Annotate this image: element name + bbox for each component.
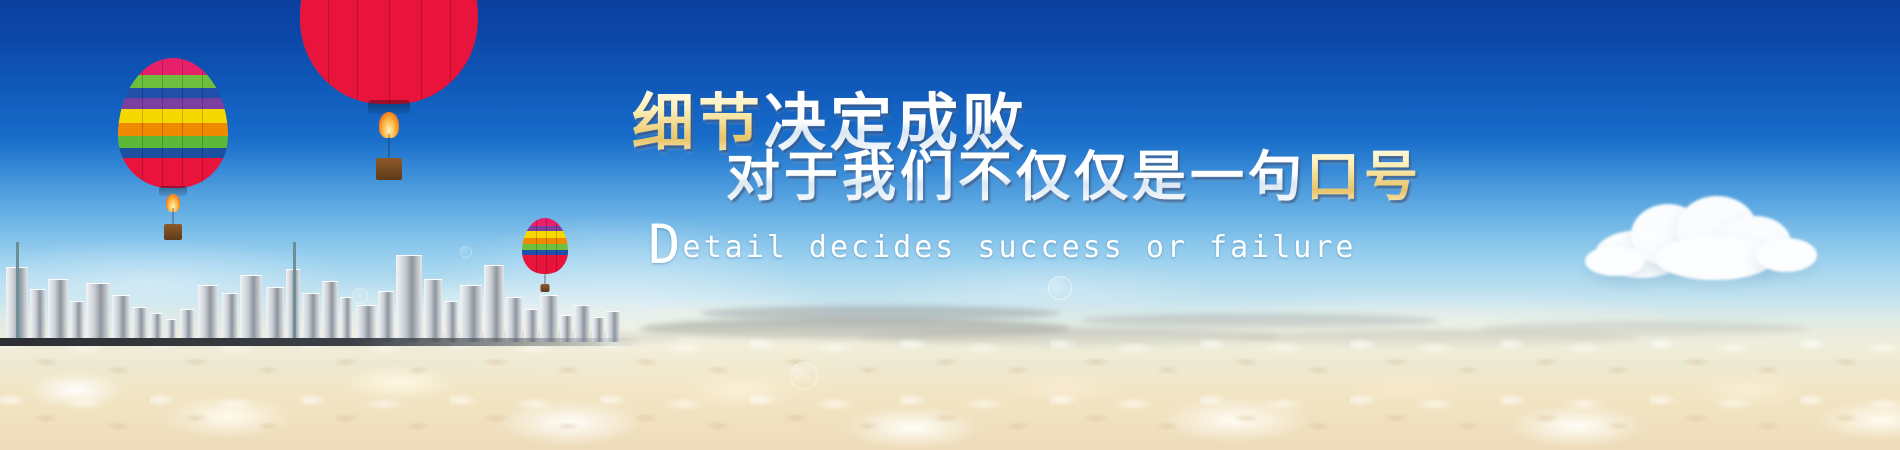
balloon-envelope [300,0,478,104]
dark-cloud-band [1080,314,1440,328]
bubble [790,362,818,390]
balloon-large-left [118,58,228,258]
subtitle-text: etail decides success or failure [683,230,1357,265]
dark-cloud-band [700,306,1060,321]
subtitle-drop-cap: D [648,213,683,276]
bubble [1048,276,1072,300]
headline-line1-gold: 细节 [632,90,764,158]
dark-cloud-band [1480,322,1810,336]
cloud-wisp-3 [1180,286,1700,360]
balloon-large-top [300,0,478,210]
cloud-wisp-4 [880,258,1220,320]
cloud-puff [1585,246,1645,276]
balloon-basket [541,284,550,292]
sun-glow [560,290,920,450]
balloon-small-center [522,218,568,304]
balloon-basket [376,158,402,180]
sea-of-clouds [0,300,1900,450]
bubble [352,288,368,304]
headline-line2-gold: 口号 [1306,147,1422,207]
bubble [460,246,472,258]
hero-banner: 细节决定成败 对于我们不仅仅是一句口号 Detail decides succe… [0,0,1900,450]
dark-cloud-band [860,328,1280,346]
dark-cloud-band [420,332,680,345]
dark-cloud-band [1240,330,1640,346]
cloud-puff [1755,238,1817,272]
left-glow [380,200,860,450]
headline-subtitle: Detail decides success or failure [648,230,1356,265]
sea-of-clouds-texture [0,330,1900,450]
balloon-envelope [118,58,228,188]
headline-line-1: 细节决定成败 [632,72,1028,162]
headline-line1-white: 决定成败 [764,90,1028,158]
headline-line2-white: 对于我们不仅仅是一句 [726,147,1306,207]
headline-line-2: 对于我们不仅仅是一句口号 [726,132,1422,211]
balloon-basket [164,224,182,240]
cloud-right [1585,196,1825,282]
dark-cloud-band [640,318,1070,340]
balloon-envelope [522,218,568,274]
cloud-wisp-2 [250,276,630,356]
